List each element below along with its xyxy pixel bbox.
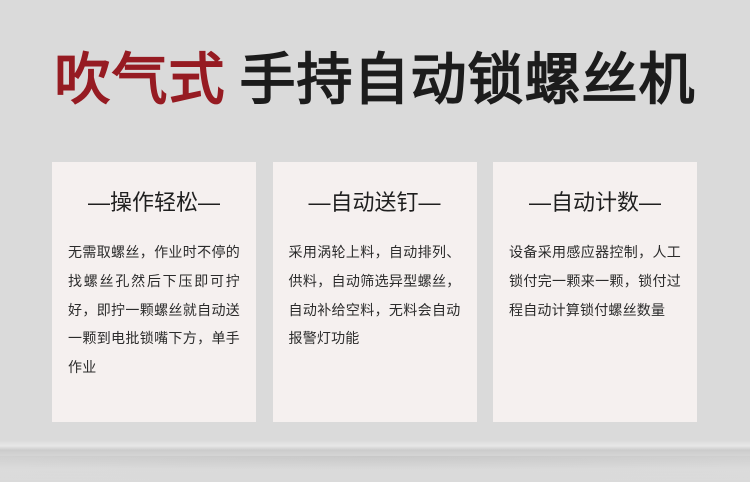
feature-card-auto-count: —自动计数— 设备采用感应器控制，人工锁付完一颗来一颗，锁付过程自动计算锁付螺丝… bbox=[493, 162, 697, 422]
feature-card-operation: —操作轻松— 无需取螺丝，作业时不停的找螺丝孔然后下压即可拧好，即拧一颗螺丝就自… bbox=[52, 162, 256, 422]
feature-card-body: 设备采用感应器控制，人工锁付完一颗来一颗，锁付过程自动计算锁付螺丝数量 bbox=[509, 238, 681, 324]
feature-card-title: —自动计数— bbox=[529, 190, 661, 216]
feature-card-title: —操作轻松— bbox=[88, 190, 220, 216]
product-feature-banner: 吹气式 手持自动锁螺丝机 —操作轻松— 无需取螺丝，作业时不停的找螺丝孔然后下压… bbox=[0, 0, 750, 482]
feature-card-body: 采用涡轮上料，自动排列、供料，自动筛选异型螺丝，自动补给空料，无料会自动报警灯功… bbox=[289, 238, 461, 353]
feature-card-list: —操作轻松— 无需取螺丝，作业时不停的找螺丝孔然后下压即可拧好，即拧一颗螺丝就自… bbox=[52, 162, 697, 422]
headline-main-text: 手持自动锁螺丝机 bbox=[240, 52, 696, 108]
headline-accent-text: 吹气式 bbox=[55, 52, 226, 108]
page-title: 吹气式 手持自动锁螺丝机 bbox=[0, 47, 750, 113]
feature-card-body: 无需取螺丝，作业时不停的找螺丝孔然后下压即可拧好，即拧一颗螺丝就自动送一颗到电批… bbox=[68, 238, 240, 381]
bottom-shelf-gradient bbox=[0, 440, 750, 482]
feature-card-auto-feed: —自动送钉— 采用涡轮上料，自动排列、供料，自动筛选异型螺丝，自动补给空料，无料… bbox=[273, 162, 477, 422]
feature-card-title: —自动送钉— bbox=[308, 190, 440, 216]
